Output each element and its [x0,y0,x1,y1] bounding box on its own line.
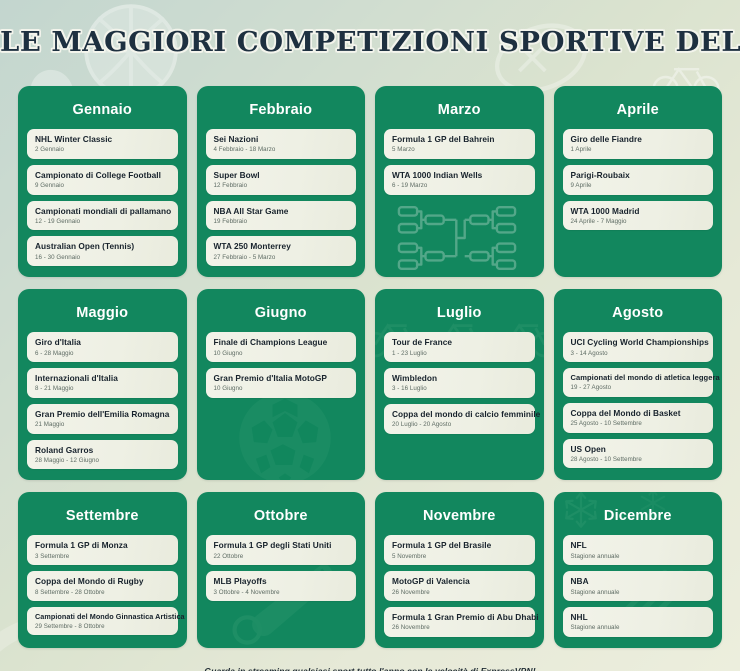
month-title: Febbraio [206,95,357,129]
event-date: 6 - 28 Maggio [35,350,171,357]
event-item[interactable]: NFL Stagione annuale [563,535,714,565]
event-name: WTA 1000 Indian Wells [392,170,528,180]
event-date: 26 Novembre [392,589,528,596]
event-name: Super Bowl [214,170,350,180]
page-header: Le maggiori competizioni sportive del 20… [0,0,740,86]
month-card-gennaio: Gennaio NHL Winter Classic 2 Gennaio Cam… [18,86,187,277]
event-date: 27 Febbraio - 5 Marzo [214,254,350,261]
month-card-marzo: Marzo Formula 1 GP del Bahrein 5 Marzo W… [375,86,544,277]
event-name: Sei Nazioni [214,134,350,144]
event-item[interactable]: Formula 1 Gran Premio di Abu Dhabi 26 No… [384,607,535,637]
event-date: 3 Settembre [35,553,171,560]
event-date: 19 - 27 Agosto [571,384,707,391]
month-title: Ottobre [206,501,357,535]
month-title: Novembre [384,501,535,535]
event-item[interactable]: NHL Winter Classic 2 Gennaio [27,129,178,159]
event-item[interactable]: Wimbledon 3 - 16 Luglio [384,368,535,398]
event-date: 2 Gennaio [35,146,171,153]
event-name: Tour de France [392,337,528,347]
event-item[interactable]: Sei Nazioni 4 Febbraio - 18 Marzo [206,129,357,159]
event-list: Giro delle Fiandre 1 Aprile Parigi-Rouba… [563,129,714,230]
event-name: US Open [571,444,707,454]
month-title: Luglio [384,298,535,332]
event-list: UCI Cycling World Championships 3 - 14 A… [563,332,714,468]
event-date: 5 Novembre [392,553,528,560]
event-list: Formula 1 GP degli Stati Uniti 22 Ottobr… [206,535,357,601]
month-title: Gennaio [27,95,178,129]
event-item[interactable]: Parigi-Roubaix 9 Aprile [563,165,714,195]
event-name: Finale di Champions League [214,337,350,347]
month-title: Aprile [563,95,714,129]
event-name: NHL [571,612,707,622]
event-item[interactable]: Formula 1 GP di Monza 3 Settembre [27,535,178,565]
event-date: 10 Giugno [214,385,350,392]
event-date: 9 Gennaio [35,182,171,189]
event-name: Formula 1 Gran Premio di Abu Dhabi [392,612,528,622]
event-item[interactable]: WTA 1000 Madrid 24 Aprile - 7 Maggio [563,201,714,231]
event-name: Campionati del Mondo Ginnastica Artistic… [35,612,171,621]
event-list: Finale di Champions League 10 Giugno Gra… [206,332,357,398]
event-item[interactable]: WTA 250 Monterrey 27 Febbraio - 5 Marzo [206,236,357,266]
month-card-ottobre: Ottobre Formula 1 GP degli Stati Uniti 2… [197,492,366,647]
event-date: 19 Febbraio [214,218,350,225]
event-item[interactable]: MotoGP di Valencia 26 Novembre [384,571,535,601]
event-name: Parigi-Roubaix [571,170,707,180]
event-date: 8 - 21 Maggio [35,385,171,392]
month-title: Dicembre [563,501,714,535]
event-name: Campionato di College Football [35,170,171,180]
event-date: 5 Marzo [392,146,528,153]
event-item[interactable]: Campionati del Mondo Ginnastica Artistic… [27,607,178,636]
event-name: Roland Garros [35,445,171,455]
event-item[interactable]: Internazionali d'Italia 8 - 21 Maggio [27,368,178,398]
month-card-febbraio: Febbraio Sei Nazioni 4 Febbraio - 18 Mar… [197,86,366,277]
event-name: WTA 250 Monterrey [214,241,350,251]
event-item[interactable]: MLB Playoffs 3 Ottobre - 4 Novembre [206,571,357,601]
event-name: Formula 1 GP del Brasile [392,540,528,550]
event-date: 16 - 30 Gennaio [35,254,171,261]
month-title: Maggio [27,298,178,332]
event-date: 1 - 23 Luglio [392,350,528,357]
month-title: Giugno [206,298,357,332]
event-date: 10 Giugno [214,350,350,357]
event-date: 4 Febbraio - 18 Marzo [214,146,350,153]
event-item[interactable]: Giro d'Italia 6 - 28 Maggio [27,332,178,362]
event-name: Gran Premio dell'Emilia Romagna [35,409,171,419]
event-name: MotoGP di Valencia [392,576,528,586]
event-item[interactable]: Coppa del Mondo di Basket 25 Agosto - 10… [563,403,714,433]
soccer-ball-watermark-icon [233,386,337,480]
event-name: Australian Open (Tennis) [35,241,171,251]
event-date: Stagione annuale [571,589,707,596]
event-item[interactable]: NHL Stagione annuale [563,607,714,637]
event-date: 6 - 19 Marzo [392,182,528,189]
event-name: NBA [571,576,707,586]
event-date: 28 Maggio - 12 Giugno [35,457,171,464]
month-title: Settembre [27,501,178,535]
event-name: Giro d'Italia [35,337,171,347]
event-date: 12 Febbraio [214,182,350,189]
event-date: 3 Ottobre - 4 Novembre [214,589,350,596]
event-item[interactable]: NBA All Star Game 19 Febbraio [206,201,357,231]
event-name: NHL Winter Classic [35,134,171,144]
event-item[interactable]: NBA Stagione annuale [563,571,714,601]
event-name: WTA 1000 Madrid [571,206,707,216]
event-name: Wimbledon [392,373,528,383]
event-list: Sei Nazioni 4 Febbraio - 18 Marzo Super … [206,129,357,266]
event-date: 21 Maggio [35,421,171,428]
event-date: 20 Luglio - 20 Agosto [392,421,528,428]
event-name: Coppa del mondo di calcio femminile [392,409,528,419]
event-item[interactable]: Formula 1 GP del Bahrein 5 Marzo [384,129,535,159]
event-item[interactable]: Formula 1 GP del Brasile 5 Novembre [384,535,535,565]
event-name: Campionati del mondo di atletica leggera [571,373,707,382]
event-date: 29 Settembre - 8 Ottobre [35,623,171,630]
page-title: Le maggiori competizioni sportive del 20… [0,26,740,58]
event-list: NFL Stagione annuale NBA Stagione annual… [563,535,714,636]
event-date: 12 - 19 Gennaio [35,218,171,225]
event-name: Formula 1 GP di Monza [35,540,171,550]
event-date: 26 Novembre [392,624,528,631]
month-title: Agosto [563,298,714,332]
event-item[interactable]: Super Bowl 12 Febbraio [206,165,357,195]
month-card-luglio: Luglio Tour de France 1 - 23 Luglio Wimb… [375,289,544,480]
tournament-bracket-watermark-icon [397,203,517,273]
event-name: Internazionali d'Italia [35,373,171,383]
event-date: 8 Settembre - 28 Ottobre [35,589,171,596]
event-name: Formula 1 GP del Bahrein [392,134,528,144]
event-list: Tour de France 1 - 23 Luglio Wimbledon 3… [384,332,535,433]
month-card-settembre: Settembre Formula 1 GP di Monza 3 Settem… [18,492,187,647]
event-name: Campionati mondiali di pallamano [35,206,171,216]
month-title: Marzo [384,95,535,129]
month-card-dicembre: Dicembre NFL Stagione annuale NBA Stagio… [554,492,723,647]
event-item[interactable]: UCI Cycling World Championships 3 - 14 A… [563,332,714,362]
event-date: 22 Ottobre [214,553,350,560]
event-date: Stagione annuale [571,553,707,560]
event-date: 3 - 14 Agosto [571,350,707,357]
month-card-maggio: Maggio Giro d'Italia 6 - 28 Maggio Inter… [18,289,187,480]
event-list: Giro d'Italia 6 - 28 Maggio Internaziona… [27,332,178,469]
event-list: NHL Winter Classic 2 Gennaio Campionato … [27,129,178,266]
month-card-novembre: Novembre Formula 1 GP del Brasile 5 Nove… [375,492,544,647]
event-date: 3 - 16 Luglio [392,385,528,392]
footer-note: Guarda in streaming qualsiasi sport tutt… [0,666,740,671]
footer: Guarda in streaming qualsiasi sport tutt… [0,648,740,671]
event-item[interactable]: Campionato di College Football 9 Gennaio [27,165,178,195]
event-list: Formula 1 GP di Monza 3 Settembre Coppa … [27,535,178,635]
event-item[interactable]: US Open 28 Agosto - 10 Settembre [563,439,714,469]
event-name: Formula 1 GP degli Stati Uniti [214,540,350,550]
event-date: 9 Aprile [571,182,707,189]
event-name: Giro delle Fiandre [571,134,707,144]
event-date: Stagione annuale [571,624,707,631]
event-item[interactable]: Australian Open (Tennis) 16 - 30 Gennaio [27,236,178,266]
event-item[interactable]: Giro delle Fiandre 1 Aprile [563,129,714,159]
event-item[interactable]: Finale di Champions League 10 Giugno [206,332,357,362]
event-date: 1 Aprile [571,146,707,153]
event-name: Coppa del Mondo di Rugby [35,576,171,586]
event-item[interactable]: Formula 1 GP degli Stati Uniti 22 Ottobr… [206,535,357,565]
event-name: Gran Premio d'Italia MotoGP [214,373,350,383]
event-item[interactable]: Campionati mondiali di pallamano 12 - 19… [27,201,178,231]
months-grid: Gennaio NHL Winter Classic 2 Gennaio Cam… [0,86,740,648]
event-item[interactable]: Coppa del Mondo di Rugby 8 Settembre - 2… [27,571,178,601]
event-item[interactable]: Gran Premio dell'Emilia Romagna 21 Maggi… [27,404,178,434]
event-name: NFL [571,540,707,550]
event-name: UCI Cycling World Championships [571,337,707,347]
event-list: Formula 1 GP del Bahrein 5 Marzo WTA 100… [384,129,535,195]
event-date: 28 Agosto - 10 Settembre [571,456,707,463]
event-date: 25 Agosto - 10 Settembre [571,420,707,427]
month-card-giugno: Giugno Finale di Champions League 10 Giu… [197,289,366,480]
event-name: Coppa del Mondo di Basket [571,408,707,418]
event-item[interactable]: Tour de France 1 - 23 Luglio [384,332,535,362]
event-item[interactable]: Campionati del mondo di atletica leggera… [563,368,714,397]
event-name: NBA All Star Game [214,206,350,216]
event-item[interactable]: Gran Premio d'Italia MotoGP 10 Giugno [206,368,357,398]
event-list: Formula 1 GP del Brasile 5 Novembre Moto… [384,535,535,636]
event-item[interactable]: Roland Garros 28 Maggio - 12 Giugno [27,440,178,470]
event-name: MLB Playoffs [214,576,350,586]
event-date: 24 Aprile - 7 Maggio [571,218,707,225]
month-card-aprile: Aprile Giro delle Fiandre 1 Aprile Parig… [554,86,723,277]
event-item[interactable]: Coppa del mondo di calcio femminile 20 L… [384,404,535,434]
month-card-agosto: Agosto UCI Cycling World Championships 3… [554,289,723,480]
event-item[interactable]: WTA 1000 Indian Wells 6 - 19 Marzo [384,165,535,195]
